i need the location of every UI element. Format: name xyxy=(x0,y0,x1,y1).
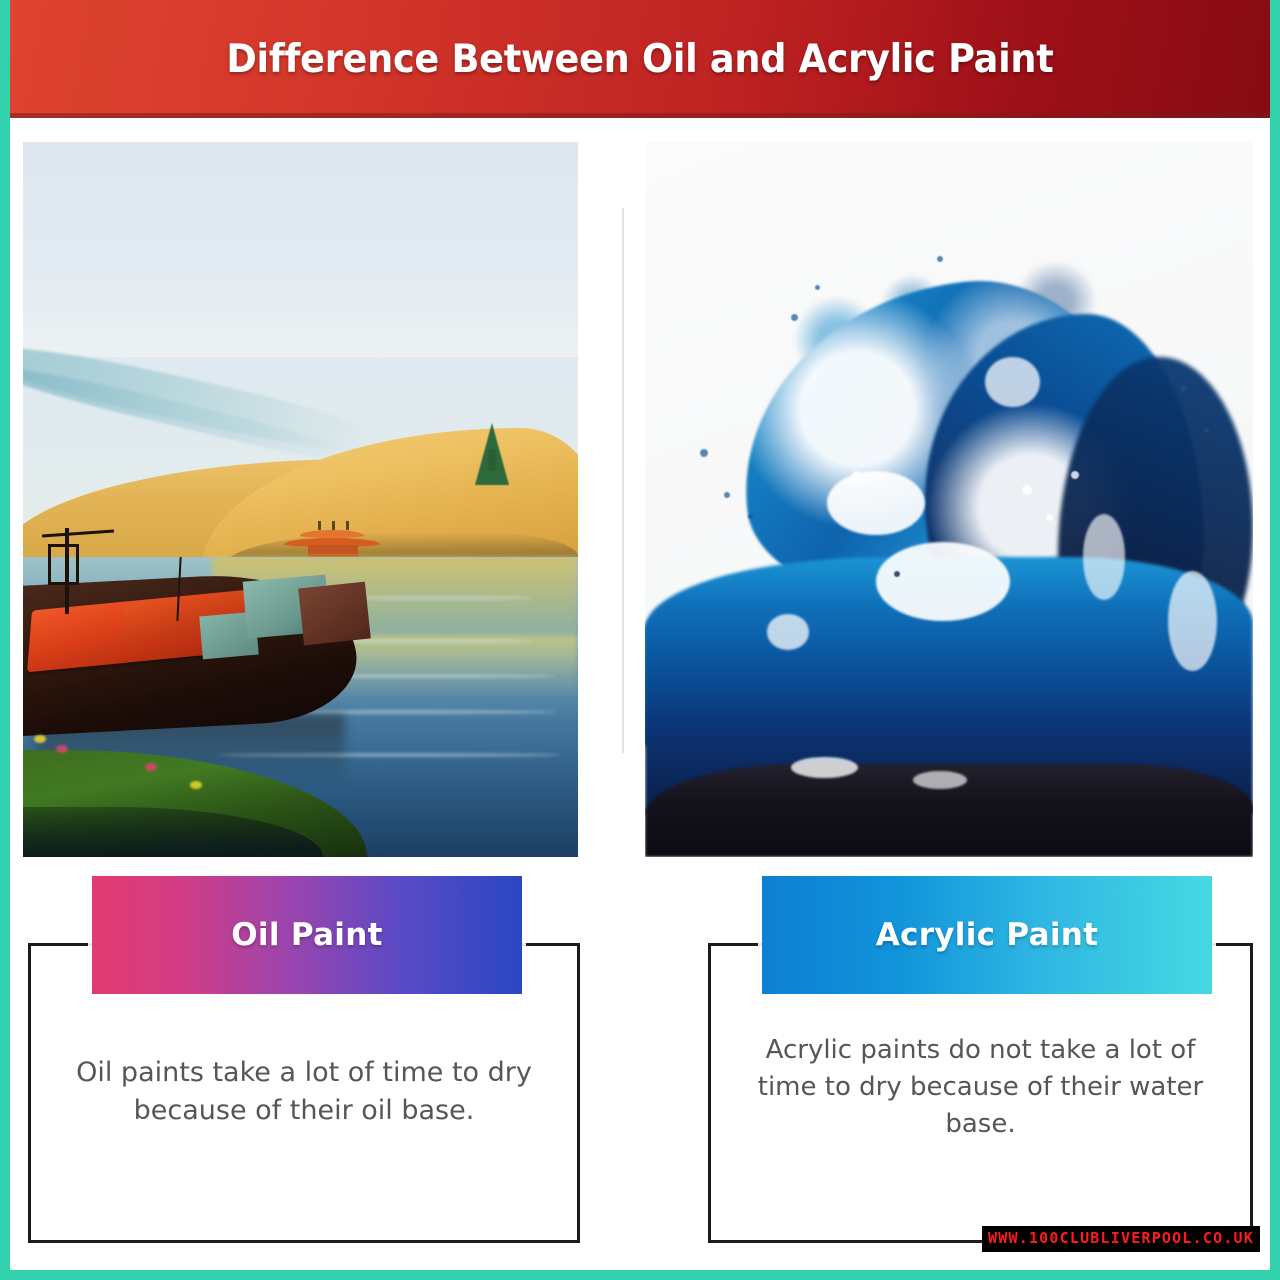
acrylic-droplet xyxy=(852,471,861,480)
artwork-row xyxy=(10,118,1270,858)
acrylic-foam xyxy=(876,542,1010,621)
oil-flower xyxy=(34,735,46,743)
acrylic-foam xyxy=(1168,571,1217,671)
oil-painting-image xyxy=(23,142,578,857)
acrylic-paint-label: Acrylic Paint xyxy=(876,917,1099,953)
acrylic-droplet xyxy=(791,314,798,321)
acrylic-paint-description: Acrylic paints do not take a lot of time… xyxy=(711,1032,1250,1143)
acrylic-foam xyxy=(827,471,924,535)
oil-sky-upper xyxy=(23,142,578,357)
oil-water-ripple xyxy=(345,596,534,600)
oil-paint-label: Oil Paint xyxy=(231,917,382,953)
oil-boat-lantern xyxy=(48,544,79,586)
page-title: Difference Between Oil and Acrylic Paint xyxy=(226,37,1053,82)
acrylic-foam xyxy=(791,757,858,778)
acrylic-paint-banner: Acrylic Paint xyxy=(762,876,1212,994)
infographic-canvas: Difference Between Oil and Acrylic Paint xyxy=(10,0,1270,1270)
oil-pine-tree xyxy=(475,423,509,485)
watermark-url: WWW.100CLUBLIVERPOOL.CO.UK xyxy=(988,1229,1254,1247)
oil-flower xyxy=(190,781,202,789)
oil-painting-canvas xyxy=(23,142,578,857)
infographic-root: Difference Between Oil and Acrylic Paint xyxy=(0,0,1280,1280)
header-banner: Difference Between Oil and Acrylic Paint xyxy=(10,0,1270,118)
acrylic-painting-canvas xyxy=(645,142,1253,857)
acrylic-foam xyxy=(985,357,1040,407)
acrylic-foam xyxy=(767,614,810,650)
acrylic-foam xyxy=(913,771,968,789)
oil-pagoda xyxy=(278,526,386,560)
acrylic-foam xyxy=(1083,514,1126,600)
column-divider xyxy=(622,208,624,753)
acrylic-painting-image xyxy=(645,142,1253,857)
oil-paint-description: Oil paints take a lot of time to dry bec… xyxy=(31,1054,577,1131)
oil-paint-banner: Oil Paint xyxy=(92,876,522,994)
acrylic-droplet xyxy=(1071,471,1079,479)
watermark[interactable]: WWW.100CLUBLIVERPOOL.CO.UK xyxy=(982,1226,1260,1252)
comparison-row: Oil paints take a lot of time to dry bec… xyxy=(10,858,1270,1258)
oil-boat-stern xyxy=(298,582,370,646)
